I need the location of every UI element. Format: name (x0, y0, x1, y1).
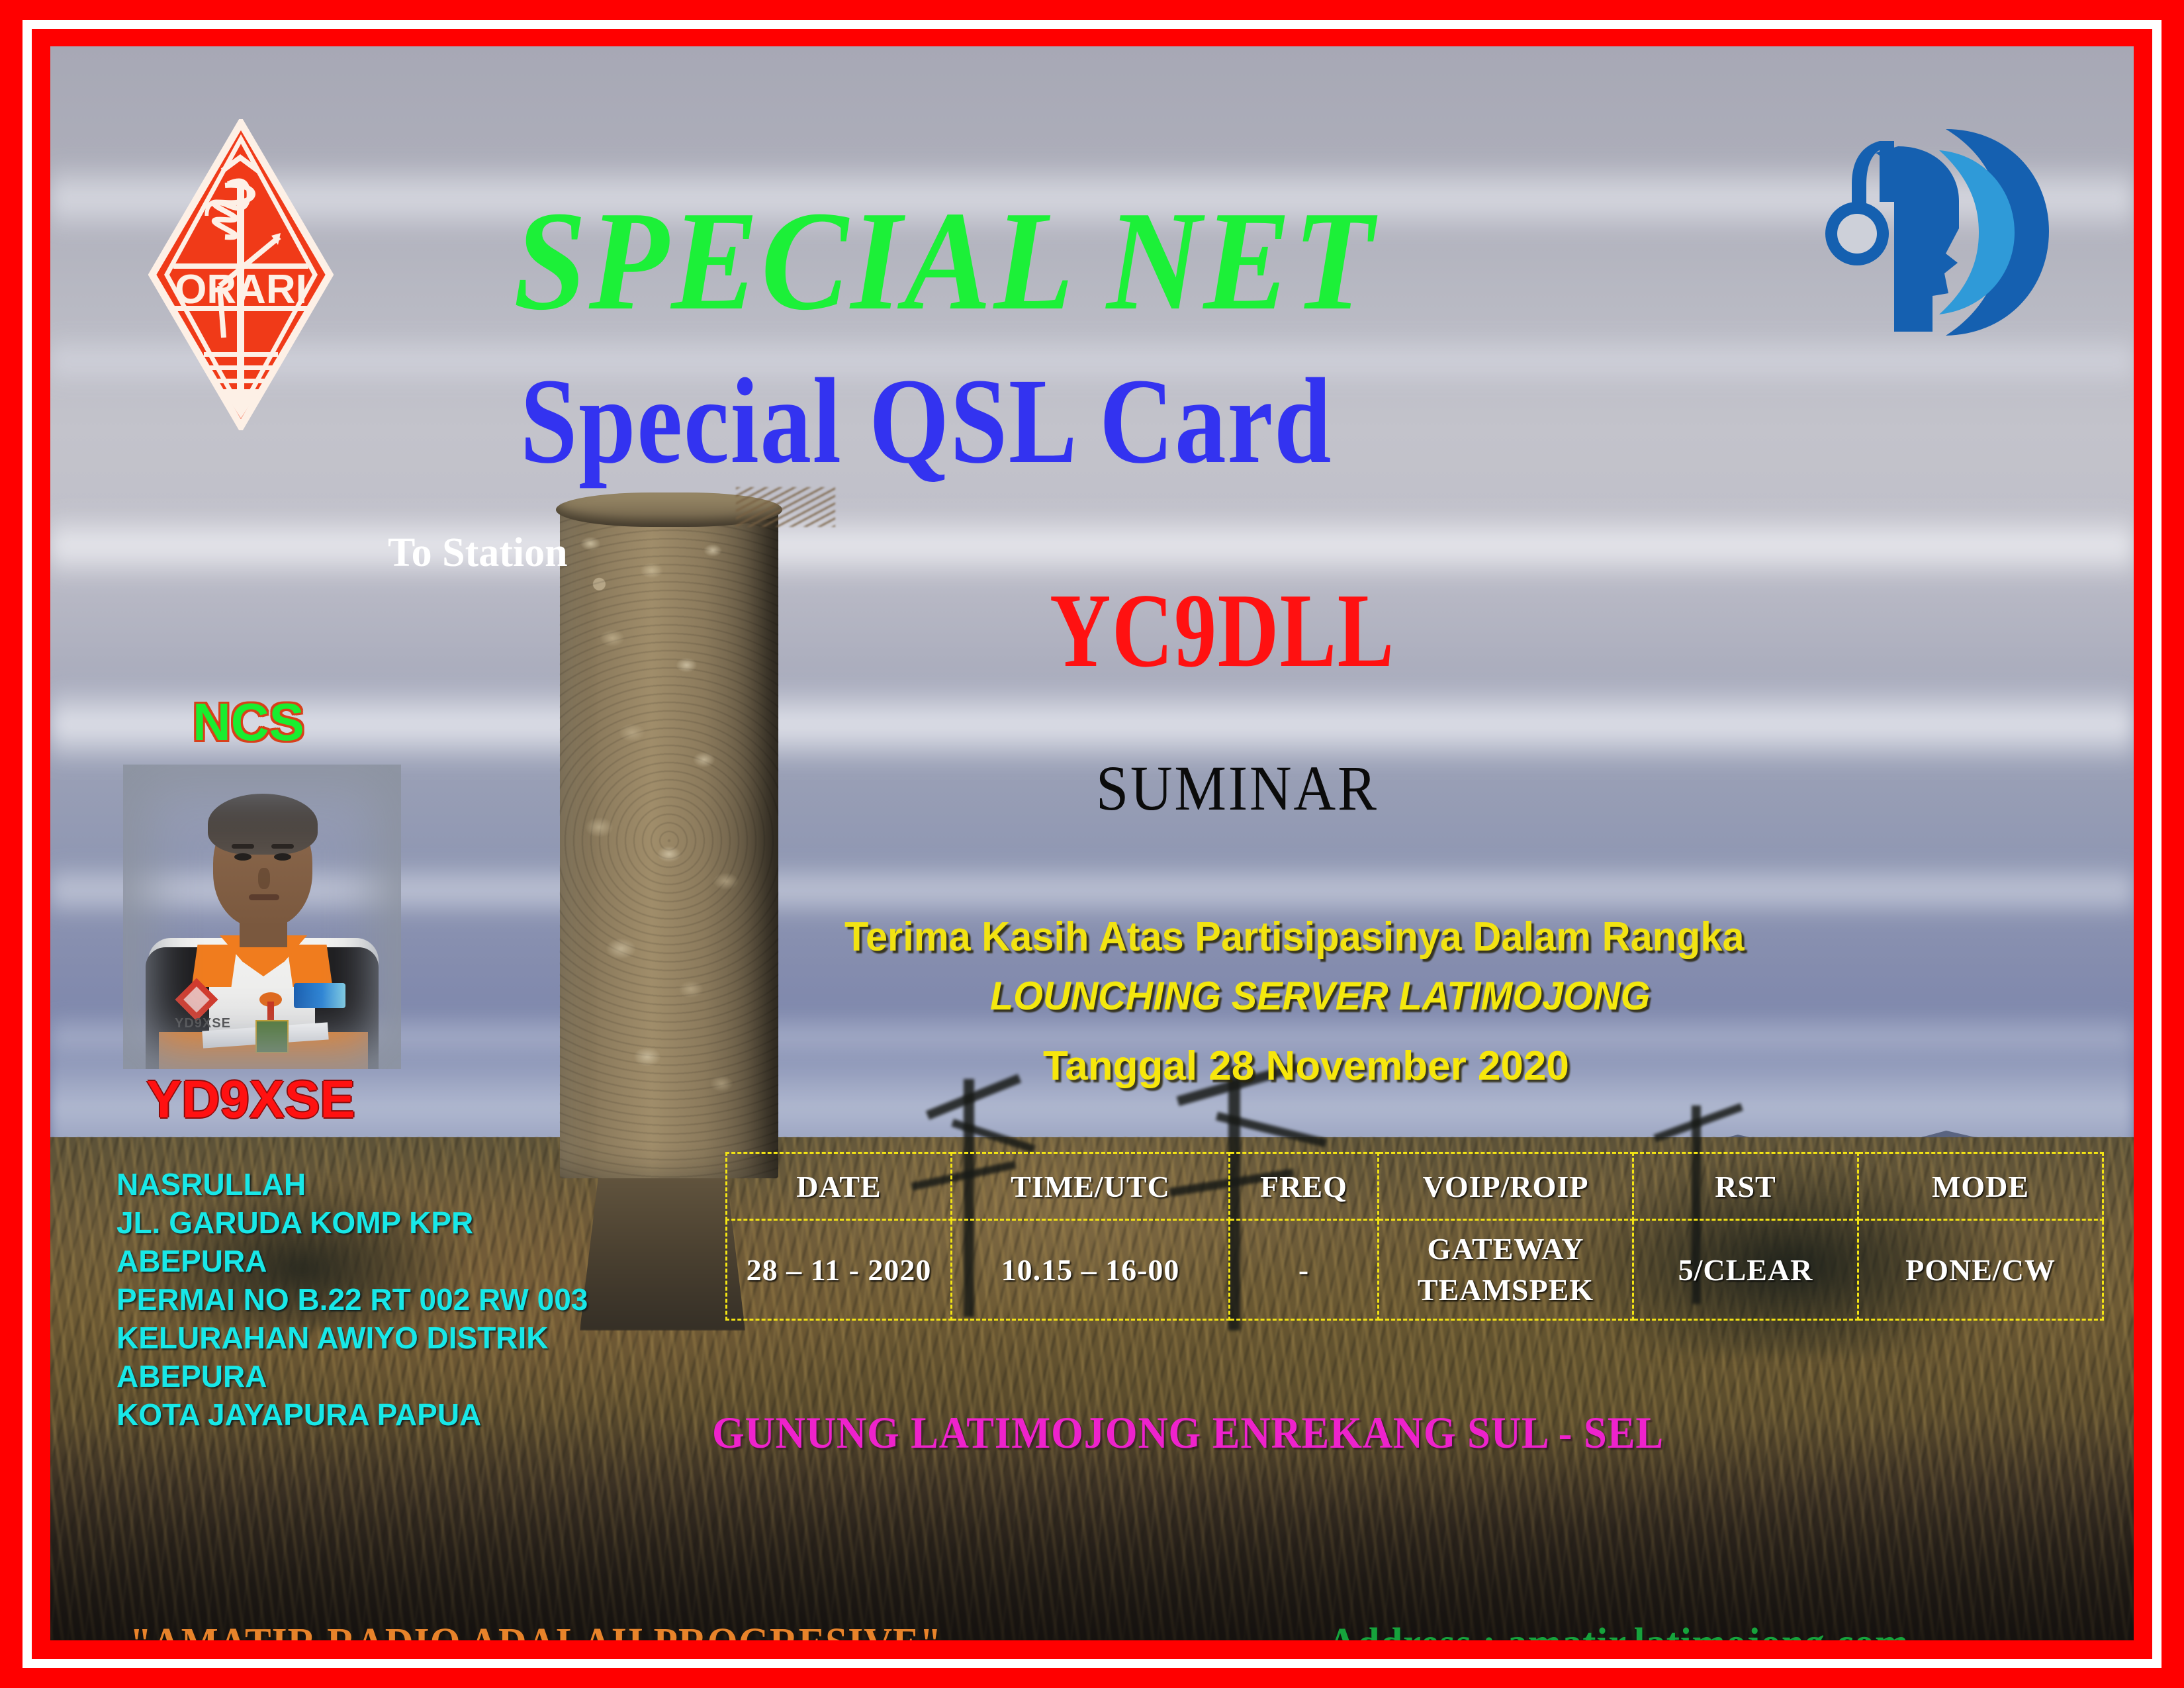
column-header-mode: MODE (1858, 1153, 2103, 1220)
column-header-freq: FREQ (1230, 1153, 1379, 1220)
address-line: NASRULLAH (116, 1165, 588, 1203)
address-line: JL. GARUDA KOMP KPR (116, 1203, 588, 1242)
table-header-row: DATE TIME/UTC FREQ VOIP/ROIP RST MODE (727, 1153, 2103, 1220)
page-title-special-net: SPECIAL NET (514, 179, 1376, 343)
address-line: KELURAHAN AWIYO DISTRIK (116, 1319, 588, 1357)
column-header-time-utc: TIME/UTC (952, 1153, 1230, 1220)
operator-name: SUMINAR (1096, 751, 1379, 825)
cell-voip-roip-line2: TEAMSPEK (1379, 1270, 1632, 1311)
message-line-1: Terima Kasih Atas Partisipasinya Dalam R… (844, 914, 1745, 961)
address-block: NASRULLAH JL. GARUDA KOMP KPR ABEPURA PE… (116, 1165, 588, 1434)
headset-head-logo (1816, 122, 2054, 341)
to-station-label: To Station (388, 530, 568, 577)
cell-mode: PONE/CW (1858, 1220, 2103, 1320)
orari-logo-icon: ORARI (148, 119, 334, 430)
pillar-grass-wisp (736, 487, 835, 527)
ncs-label: NCS (193, 692, 304, 753)
message-line-3-date: Tanggal 28 November 2020 (1043, 1043, 1569, 1090)
column-header-rst: RST (1633, 1153, 1858, 1220)
footer-slogan: "AMATIR RADIO ADALAH PROGRESIVE" (130, 1618, 942, 1640)
cell-time-utc: 10.15 – 16-00 (952, 1220, 1230, 1320)
orari-logo-text: ORARI (175, 267, 307, 312)
photo-vignette (123, 765, 401, 1069)
pillar-body (560, 503, 778, 1178)
address-line: ABEPURA (116, 1357, 588, 1395)
pillar-stone-texture (560, 503, 778, 1178)
address-line: KOTA JAYAPURA PAPUA (116, 1395, 588, 1434)
cell-voip-roip-line1: GATEWAY (1379, 1229, 1632, 1270)
location-text: GUNUNG LATIMOJONG ENREKANG SUL - SEL (712, 1407, 1664, 1459)
cloud-band (50, 682, 2134, 768)
cell-rst: 5/CLEAR (1633, 1220, 1858, 1320)
cell-voip-roip: GATEWAY TEAMSPEK (1379, 1220, 1633, 1320)
card-photo-area: ORARI (50, 46, 2134, 1640)
ncs-callsign: YD9XSE (146, 1069, 355, 1130)
qso-table: DATE TIME/UTC FREQ VOIP/ROIP RST MODE 28… (725, 1152, 2104, 1321)
qsl-card: ORARI (0, 0, 2184, 1688)
cell-date: 28 – 11 - 2020 (727, 1220, 952, 1320)
orari-logo: ORARI (148, 119, 334, 430)
footer-web-address: Address : amatir.latimojong.com (1328, 1618, 1909, 1640)
table-row: 28 – 11 - 2020 10.15 – 16-00 - GATEWAY T… (727, 1220, 2103, 1320)
page-subtitle-special-qsl-card: Special QSL Card (520, 351, 1332, 492)
message-line-2: LOUNCHING SERVER LATIMOJONG (990, 973, 1650, 1019)
headset-head-logo-icon (1816, 122, 2054, 341)
column-header-voip-roip: VOIP/ROIP (1379, 1153, 1633, 1220)
address-line: ABEPURA (116, 1242, 588, 1280)
ncs-operator-photo: YD9XSE (123, 765, 401, 1069)
column-header-date: DATE (727, 1153, 952, 1220)
station-callsign: YC9DLL (1050, 569, 1395, 692)
address-line: PERMAI NO B.22 RT 002 RW 003 (116, 1280, 588, 1319)
cell-freq: - (1230, 1220, 1379, 1320)
